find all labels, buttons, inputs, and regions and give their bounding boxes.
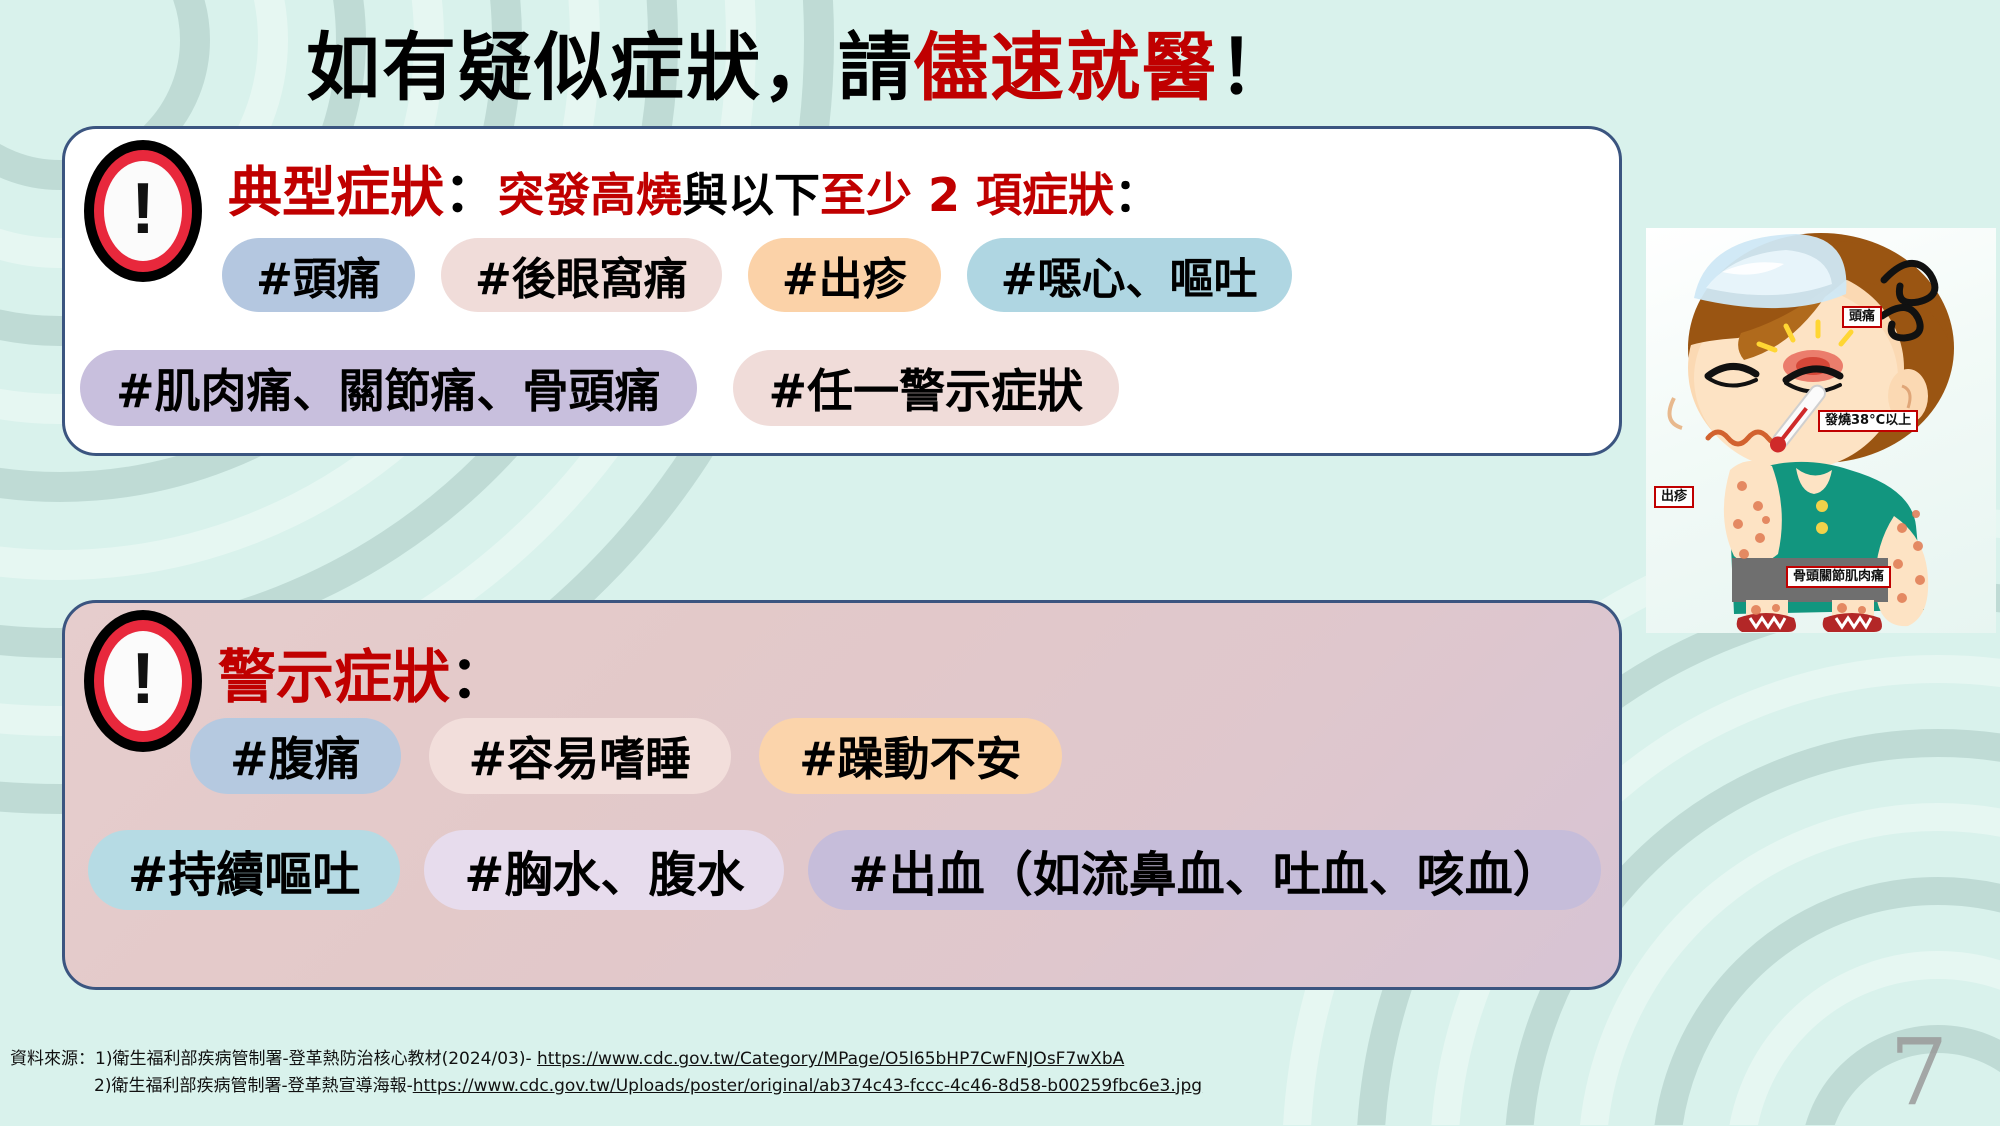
symptom-pill[interactable]: #出血（如流鼻血、吐血、咳血）: [808, 830, 1600, 910]
footer-source-note: 資料來源：1)衛生福利部疾病管制署-登革熱防治核心教材(2024/03)- ht…: [10, 1046, 1202, 1099]
typical-heading-red-3: 至少 2 項症狀: [820, 168, 1114, 222]
exclamation-mark: !: [131, 173, 155, 245]
exclamation-mark: !: [131, 643, 155, 715]
title-part-red: 儘速就醫: [914, 25, 1218, 111]
symptom-pill[interactable]: #頭痛: [222, 238, 415, 312]
illustration-label-fever: 發燒38°C以上: [1818, 410, 1918, 432]
warning-pill-row-2: #持續嘔吐 #胸水、腹水 #出血（如流鼻血、吐血、咳血）: [88, 830, 1601, 910]
page-title: 如有疑似症狀，請儘速就醫！: [0, 8, 1600, 115]
sick-child-illustration: 頭痛 發燒38°C以上 出疹 骨頭關節肌肉痛: [1646, 228, 1996, 633]
symptom-pill[interactable]: #任一警示症狀: [733, 350, 1120, 426]
warning-symptoms-heading: 警示症狀：: [218, 630, 508, 714]
typical-pill-row-2: #肌肉痛、關節痛、骨頭痛 #任一警示症狀: [80, 350, 1119, 426]
symptom-pill[interactable]: #腹痛: [190, 718, 401, 794]
symptom-pill[interactable]: #容易嗜睡: [429, 718, 732, 794]
footer-link-1[interactable]: https://www.cdc.gov.tw/Category/MPage/O5…: [537, 1049, 1124, 1069]
footer-line-1-text: 1)衛生福利部疾病管制署-登革熱防治核心教材(2024/03)-: [95, 1049, 537, 1069]
typical-heading-black-1: ：: [444, 161, 498, 224]
footer-line-2: 2)衛生福利部疾病管制署-登革熱宣導海報-https://www.cdc.gov…: [10, 1073, 1202, 1099]
typical-heading-red-1: 典型症狀: [228, 161, 444, 224]
illustration-label-body-pain: 骨頭關節肌肉痛: [1786, 566, 1891, 588]
symptom-pill[interactable]: #肌肉痛、關節痛、骨頭痛: [80, 350, 697, 426]
typical-heading-black-3: ：: [1114, 168, 1160, 222]
illustration-label-headache: 頭痛: [1842, 306, 1882, 328]
title-part-black-1: 如有疑似症狀，請: [306, 25, 914, 111]
page-number: 7: [1889, 1027, 1948, 1119]
footer-link-2[interactable]: https://www.cdc.gov.tw/Uploads/poster/or…: [413, 1076, 1202, 1096]
exclamation-icon-inner: !: [104, 631, 182, 731]
exclamation-icon: !: [84, 140, 202, 282]
warning-heading-red: 警示症狀: [218, 643, 450, 711]
warning-heading-black: ：: [450, 643, 508, 711]
title-part-black-2: ！: [1218, 25, 1294, 111]
symptom-pill[interactable]: #後眼窩痛: [441, 238, 722, 312]
footer-line-1: 資料來源：1)衛生福利部疾病管制署-登革熱防治核心教材(2024/03)- ht…: [10, 1046, 1202, 1072]
typical-symptoms-heading: 典型症狀：突發高燒與以下至少 2 項症狀：: [228, 148, 1160, 227]
footer-source-prefix: 資料來源：: [10, 1049, 95, 1069]
warning-pill-row-1: #腹痛 #容易嗜睡 #躁動不安: [190, 718, 1062, 794]
exclamation-icon: !: [84, 610, 202, 752]
symptom-pill[interactable]: #噁心、嘔吐: [967, 238, 1292, 312]
typical-pill-row-1: #頭痛 #後眼窩痛 #出疹 #噁心、嘔吐: [222, 238, 1292, 312]
symptom-pill[interactable]: #躁動不安: [759, 718, 1062, 794]
typical-heading-black-2: 與以下: [682, 168, 820, 222]
exclamation-icon-inner: !: [104, 161, 182, 261]
typical-heading-red-2: 突發高燒: [498, 168, 682, 222]
symptom-pill[interactable]: #出疹: [748, 238, 941, 312]
symptom-pill[interactable]: #持續嘔吐: [88, 830, 400, 910]
illustration-label-rash: 出疹: [1654, 486, 1694, 508]
symptom-pill[interactable]: #胸水、腹水: [424, 830, 784, 910]
footer-line-2-text: 2)衛生福利部疾病管制署-登革熱宣導海報-: [94, 1076, 413, 1096]
